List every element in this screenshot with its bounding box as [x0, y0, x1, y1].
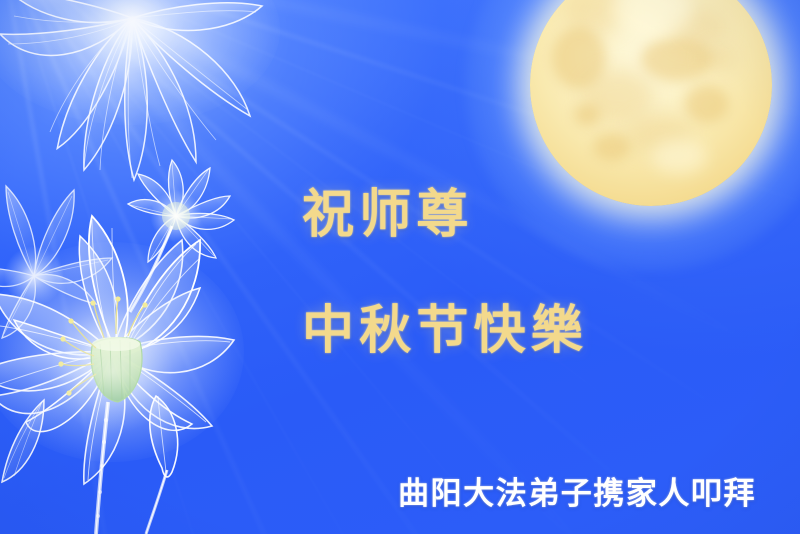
- greeting-line-1: 祝师尊: [302, 172, 474, 247]
- signature-text: 曲阳大法弟子携家人叩拜: [398, 468, 756, 513]
- greeting-line-2: 中秋节快樂: [302, 288, 588, 363]
- full-moon: [530, 0, 772, 206]
- greeting-card: 祝师尊 中秋节快樂 曲阳大法弟子携家人叩拜: [0, 0, 800, 534]
